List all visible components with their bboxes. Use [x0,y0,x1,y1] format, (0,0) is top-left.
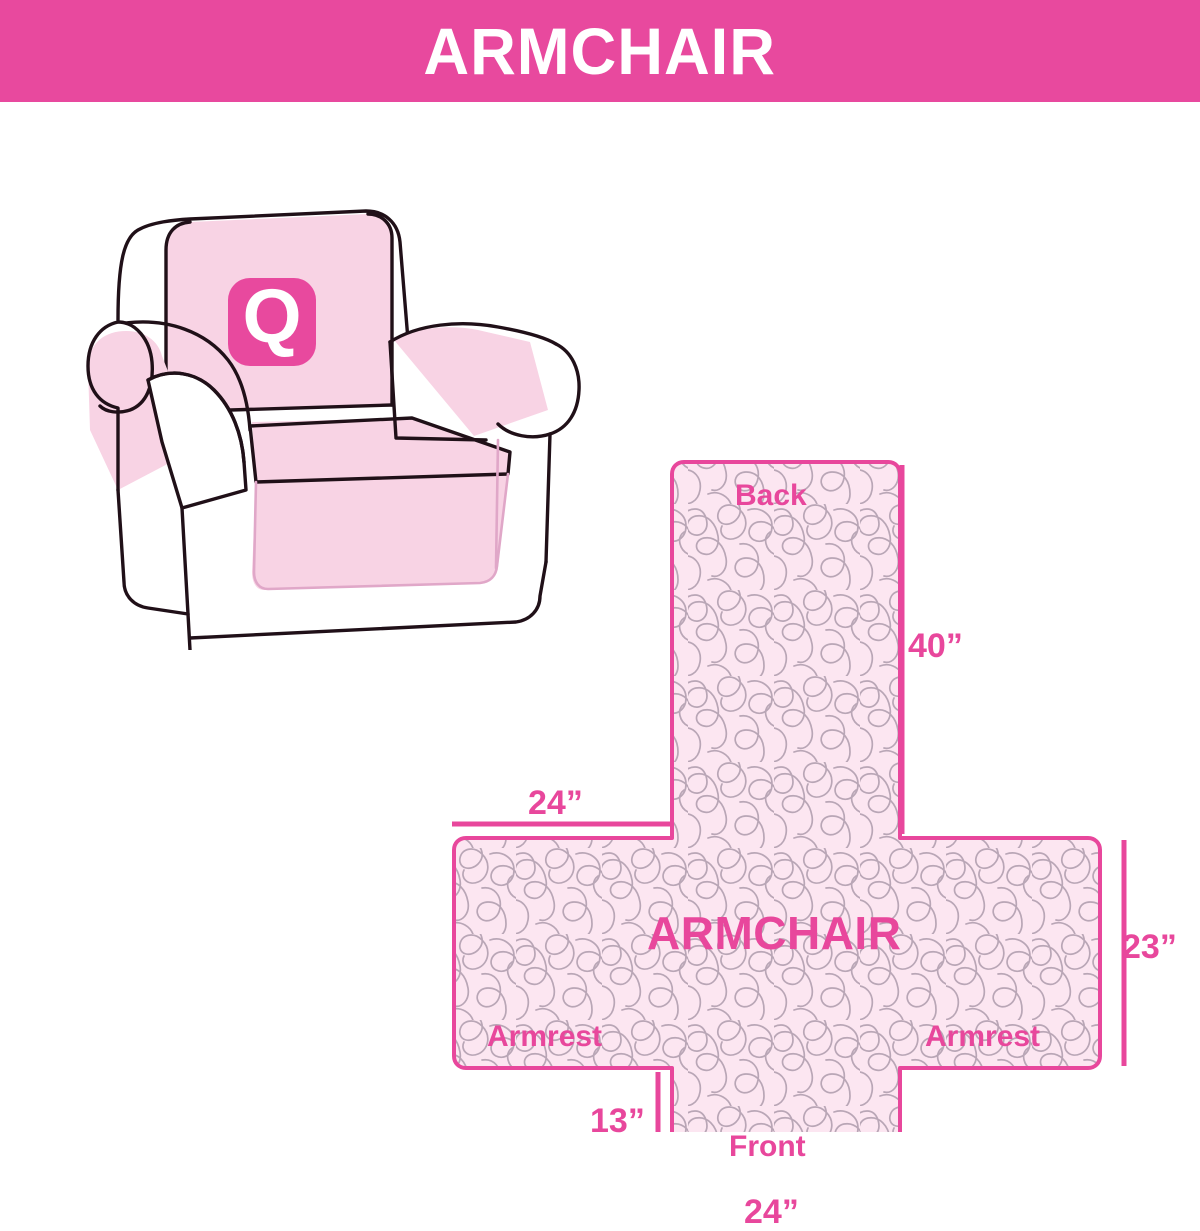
logo-letter: Q [242,274,301,359]
header-banner: ARMCHAIR [0,0,1200,102]
brand-logo: Q [228,274,316,366]
content-stage: Q [0,102,1200,1200]
page-title: ARMCHAIR [424,18,777,84]
panel-label-armrest-left: Armrest [487,1022,602,1052]
chair-base-left-edge [182,508,188,614]
dimension-back-height: 40” [908,629,963,663]
dimension-front-width: 24” [744,1195,799,1229]
slipcover-diagram [430,332,1190,1132]
panel-label-front: Front [729,1132,806,1162]
diagram-center-label: ARMCHAIR [647,910,901,956]
panel-label-armrest-right: Armrest [925,1022,1040,1052]
chair-base-outline [118,490,190,650]
slipcover-diagram-svg [430,332,1190,1132]
panel-label-back: Back [735,481,807,511]
dimension-front-height: 13” [590,1104,645,1138]
dimension-armrest-width: 24” [528,786,583,820]
dimension-center-height: 23” [1122,930,1177,964]
